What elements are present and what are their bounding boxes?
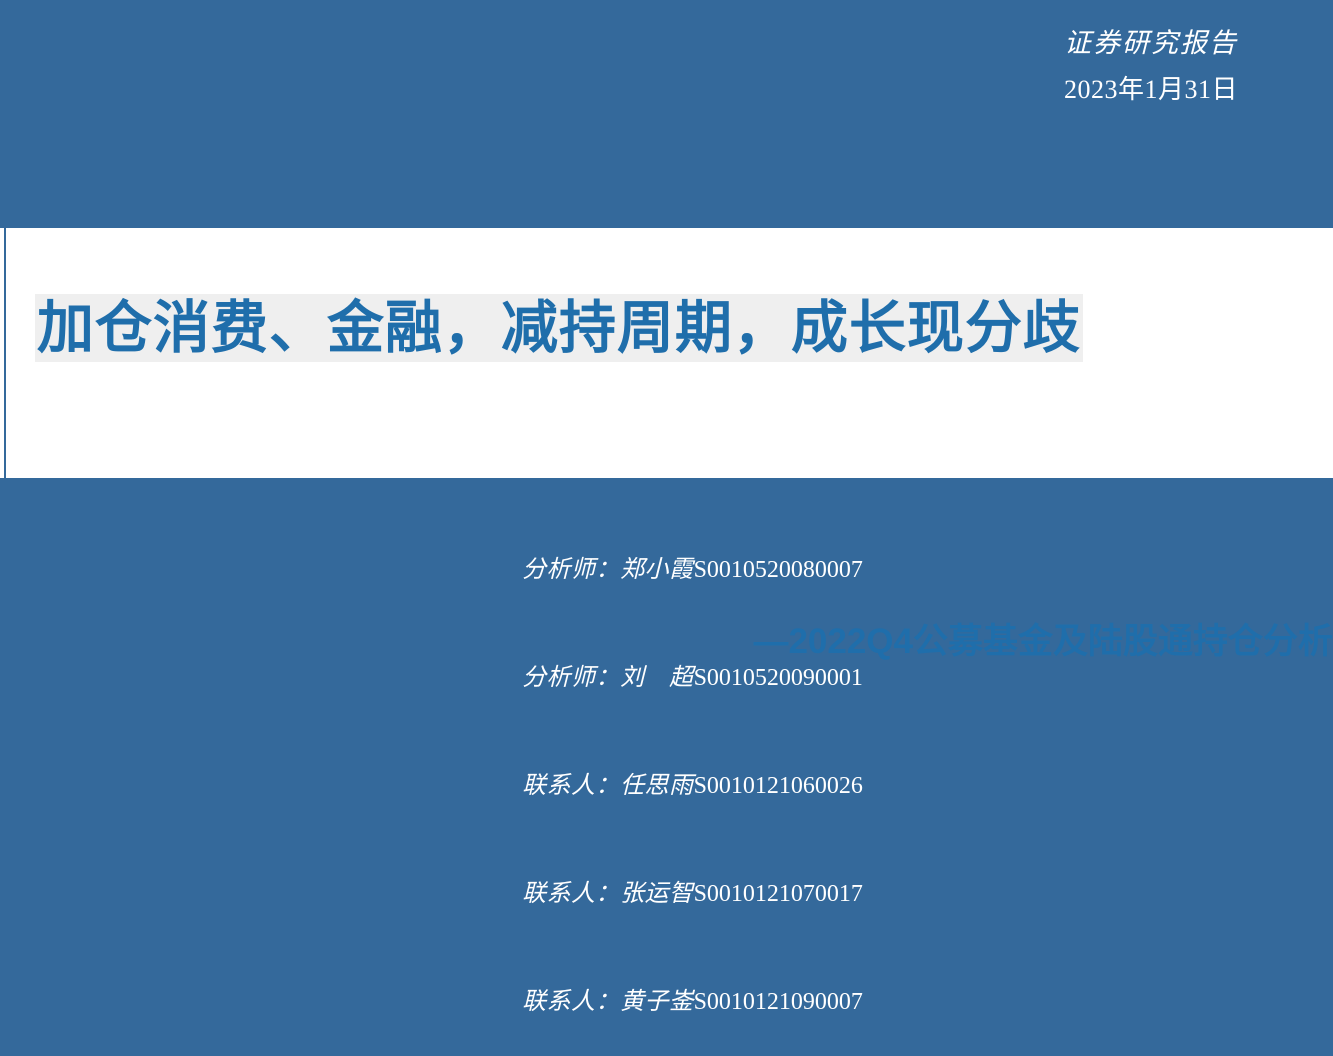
analyst-role: 分析师： — [522, 665, 620, 691]
list-item: 联系人：任思雨S0010121060026 — [470, 732, 863, 840]
report-date-label: 2023年1月31日 — [1021, 73, 1281, 107]
list-item: 分析师：刘 超S0010520090001 — [470, 624, 863, 732]
analyst-code: S0010121070017 — [694, 881, 863, 907]
main-title-highlight: 加仓消费、金融，减持周期，成长现分歧 — [35, 294, 1083, 362]
analyst-role: 分析师： — [522, 557, 620, 583]
cover-header: 证券研究报告 2023年1月31日 — [1021, 26, 1281, 107]
analyst-code: S0010121060026 — [694, 773, 863, 799]
analyst-name: 任思雨 — [620, 773, 694, 799]
list-item: 分析师：郑小霞S0010520080007 — [470, 516, 863, 624]
list-item: 联系人：黄子崟S0010121090007 — [470, 948, 863, 1056]
analyst-name: 黄子崟 — [620, 989, 694, 1015]
analyst-code: S0010520080007 — [694, 557, 863, 583]
analyst-code: S0010520090001 — [694, 665, 863, 691]
analyst-name: 郑小霞 — [620, 557, 694, 583]
analyst-name: 张运智 — [620, 881, 694, 907]
report-kind-label: 证券研究报告 — [1021, 26, 1281, 61]
analyst-code: S0010121090007 — [694, 989, 863, 1015]
analyst-list-inner: 分析师：郑小霞S0010520080007 分析师：刘 超S0010520090… — [470, 516, 863, 1056]
analyst-list: 分析师：郑小霞S0010520080007 分析师：刘 超S0010520090… — [0, 516, 1333, 1056]
analyst-role: 联系人： — [522, 881, 620, 907]
analyst-role: 联系人： — [522, 989, 620, 1015]
report-cover-slide: 证券研究报告 2023年1月31日 加仓消费、金融，减持周期，成长现分歧 —20… — [0, 0, 1333, 750]
panel-left-rule — [4, 228, 6, 478]
page-title: 加仓消费、金融，减持周期，成长现分歧 — [37, 300, 1081, 357]
analyst-role: 联系人： — [522, 773, 620, 799]
title-panel: 加仓消费、金融，减持周期，成长现分歧 —2022Q4公募基金及陆股通持仓分析 — [0, 228, 1333, 478]
analyst-name: 刘 超 — [620, 665, 694, 691]
list-item: 联系人：张运智S0010121070017 — [470, 840, 863, 948]
